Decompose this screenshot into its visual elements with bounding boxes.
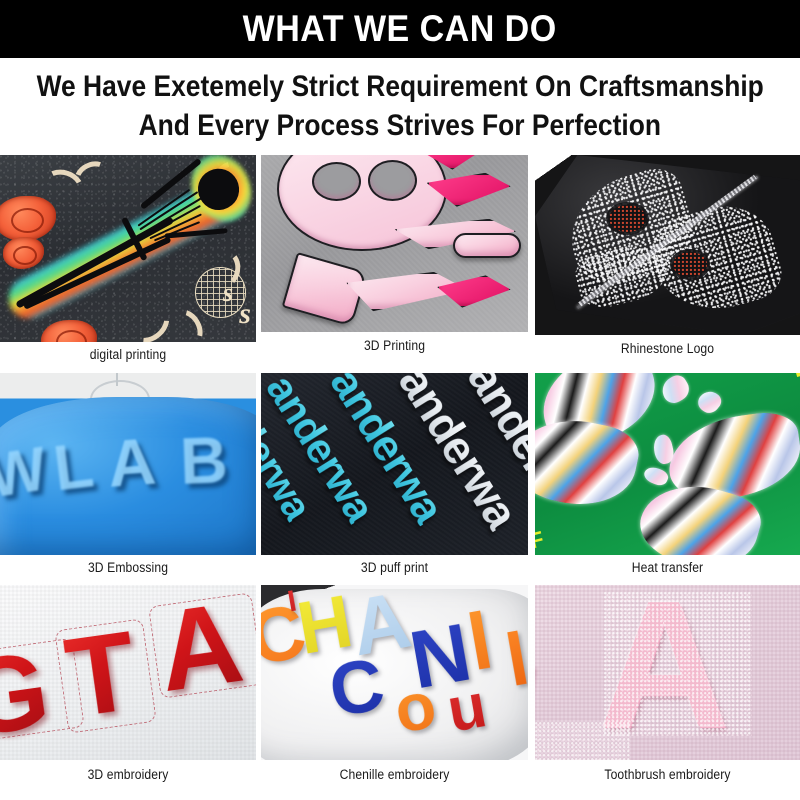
thumbnail-3d-printing bbox=[261, 155, 528, 332]
artwork-chenille-embroidery: C H I A C N o l u l bbox=[261, 585, 528, 760]
subheadline: We Have Exetemely Strict Requirement On … bbox=[0, 58, 800, 155]
caption-rhinestone-logo: Rhinestone Logo bbox=[548, 341, 787, 356]
artwork-3d-embroidery: G T A bbox=[0, 585, 256, 760]
caption-3d-printing: 3D Printing bbox=[274, 338, 514, 353]
artwork-heat-transfer: FASHION F bbox=[535, 373, 800, 555]
showcase-grid: s s digital printing bbox=[0, 155, 800, 800]
thumbnail-chenille-embroidery: C H I A C N o l u l bbox=[261, 585, 528, 760]
artwork-rhinestone-logo bbox=[535, 155, 800, 335]
thumbnail-3d-embroidery: G T A bbox=[0, 585, 256, 760]
caption-chenille-embroidery: Chenille embroidery bbox=[274, 767, 514, 782]
showcase-item-chenille-embroidery[interactable]: C H I A C N o l u l Chenille embroidery bbox=[261, 585, 528, 790]
thumbnail-digital-printing: s s bbox=[0, 155, 256, 342]
showcase-item-3d-puff-print[interactable]: anderwa anderwa anderwa anderwa anderwa … bbox=[261, 373, 528, 578]
artwork-3d-printing bbox=[261, 155, 528, 332]
subheadline-line-1: We Have Exetemely Strict Requirement On … bbox=[36, 68, 763, 106]
showcase-item-3d-embossing[interactable]: W L A B 3D Embossing bbox=[0, 373, 256, 578]
caption-3d-embossing: 3D Embossing bbox=[13, 560, 243, 575]
caption-digital-printing: digital printing bbox=[13, 347, 243, 362]
page-title: WHAT WE CAN DO bbox=[243, 8, 557, 50]
caption-toothbrush-embroidery: Toothbrush embroidery bbox=[548, 767, 787, 782]
artwork-3d-puff-print: anderwa anderwa anderwa anderwa anderwa bbox=[261, 373, 528, 555]
header-band: WHAT WE CAN DO bbox=[0, 0, 800, 58]
caption-3d-embroidery: 3D embroidery bbox=[13, 767, 243, 782]
showcase-item-rhinestone-logo[interactable]: Rhinestone Logo bbox=[535, 155, 800, 365]
artwork-digital-printing: s s bbox=[0, 155, 256, 342]
thumbnail-toothbrush-embroidery: A / bbox=[535, 585, 800, 760]
thumbnail-rhinestone-logo bbox=[535, 155, 800, 335]
showcase-item-toothbrush-embroidery[interactable]: A / Toothbrush embroidery bbox=[535, 585, 800, 790]
showcase-item-3d-printing[interactable]: 3D Printing bbox=[261, 155, 528, 365]
artwork-3d-embossing: W L A B bbox=[0, 373, 256, 555]
showcase-item-heat-transfer[interactable]: FASHION F Heat transfer bbox=[535, 373, 800, 578]
poster-root: WHAT WE CAN DO We Have Exetemely Strict … bbox=[0, 0, 800, 800]
showcase-item-3d-embroidery[interactable]: G T A 3D embroidery bbox=[0, 585, 256, 790]
caption-heat-transfer: Heat transfer bbox=[548, 560, 787, 575]
showcase-item-digital-printing[interactable]: s s digital printing bbox=[0, 155, 256, 365]
subheadline-line-2: And Every Process Strives For Perfection bbox=[139, 107, 661, 145]
caption-3d-puff-print: 3D puff print bbox=[274, 560, 514, 575]
thumbnail-heat-transfer: FASHION F bbox=[535, 373, 800, 555]
thumbnail-3d-embossing: W L A B bbox=[0, 373, 256, 555]
artwork-toothbrush-embroidery: A / bbox=[535, 585, 800, 760]
artwork-fashion-label: FASHION bbox=[754, 373, 800, 383]
thumbnail-3d-puff-print: anderwa anderwa anderwa anderwa anderwa bbox=[261, 373, 528, 555]
